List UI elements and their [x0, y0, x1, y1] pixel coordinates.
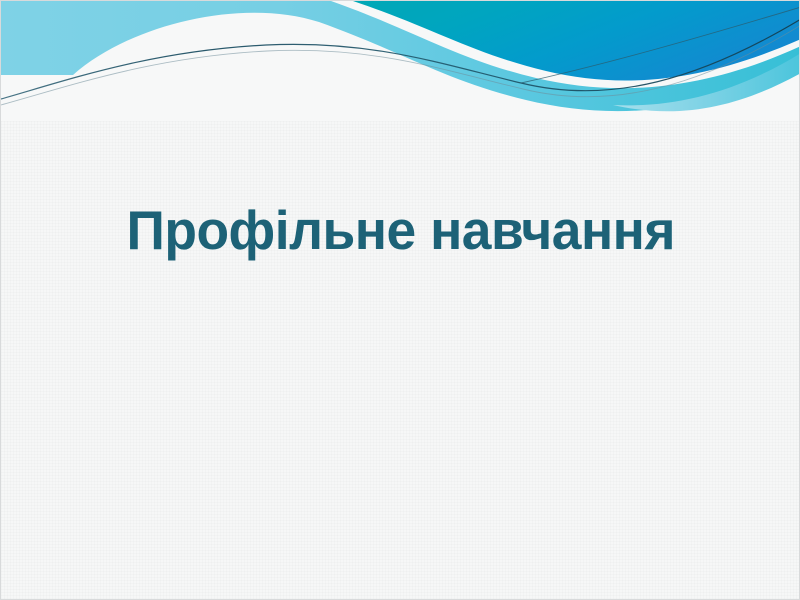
- thin-contour-line-upper: [521, 7, 800, 83]
- mid-cyan-wave: [613, 53, 800, 111]
- flow-wave-banner: [1, 1, 800, 121]
- deep-teal-wave: [353, 1, 800, 80]
- thin-contour-line-echo: [1, 25, 800, 105]
- slide-canvas: Профільне навчання: [0, 0, 800, 600]
- banner-base: [1, 1, 800, 121]
- page-title: Профільне навчання: [127, 197, 676, 263]
- title-block: Профільне навчання: [1, 197, 800, 263]
- thin-contour-line: [1, 19, 800, 99]
- light-cyan-wave: [1, 1, 800, 111]
- paper-texture-overlay: [1, 1, 799, 599]
